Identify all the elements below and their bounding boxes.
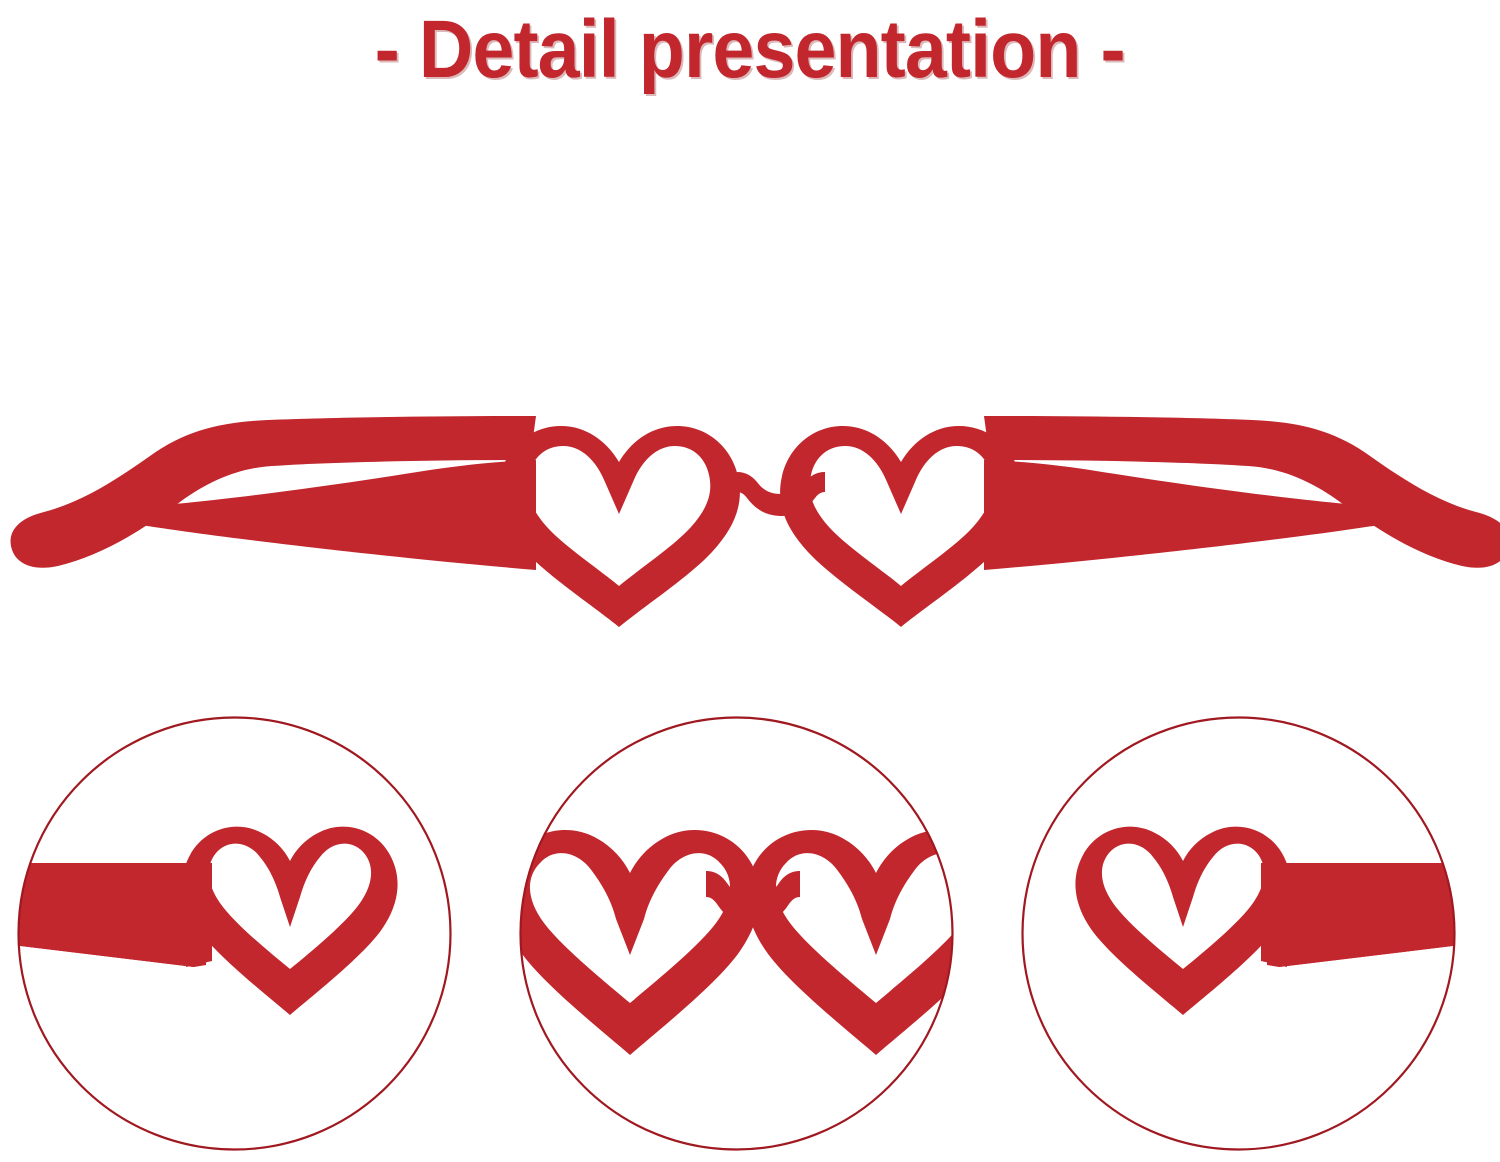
- heart-lens-left-icon: [16, 715, 453, 1152]
- detail-circle-bridge: [518, 715, 955, 1152]
- detail-circle-left-lens: [16, 715, 453, 1152]
- detail-callouts-row: [0, 715, 1500, 1160]
- detail-circle-right-lens: [1020, 715, 1457, 1152]
- heart-lens-right-icon: [1020, 715, 1457, 1152]
- heart-glasses-icon: [0, 400, 1500, 670]
- page-title: - Detail presentation -: [375, 5, 1125, 95]
- title-bar: - Detail presentation -: [0, 0, 1500, 100]
- heart-bridge-icon: [518, 715, 955, 1152]
- hero-product-image: [0, 400, 1500, 670]
